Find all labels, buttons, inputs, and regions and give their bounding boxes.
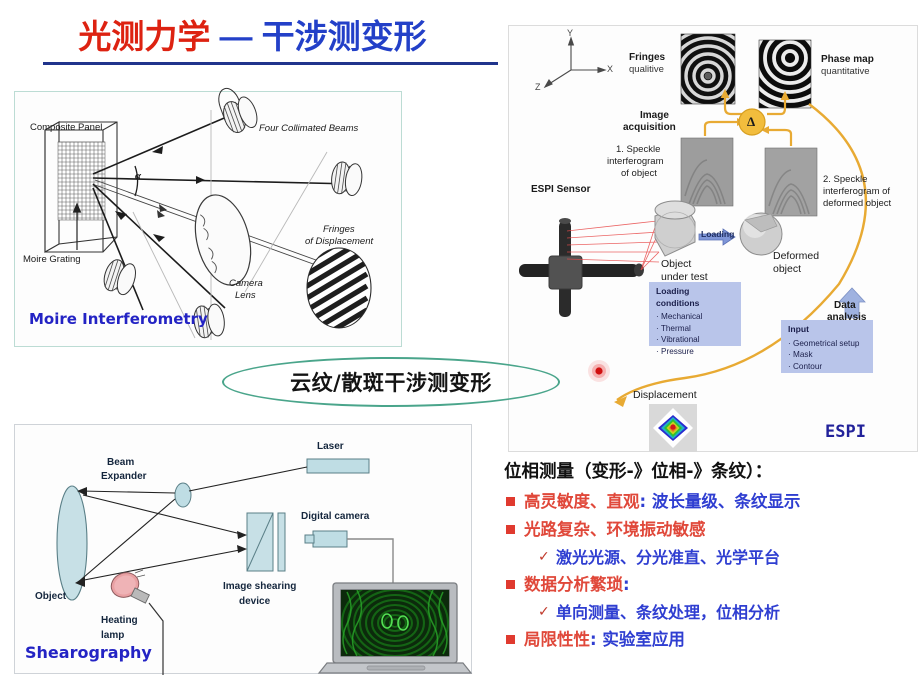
label-heating-lamp-line1: Heating (101, 615, 138, 626)
loading-conditions-item: · Mechanical (656, 311, 735, 323)
label-alpha-angle: α (135, 170, 141, 182)
center-topic-callout: 云纹/散斑干涉测变形 (222, 357, 560, 407)
shearography-figure: Laser Beam Expander Object Heating lamp … (14, 424, 472, 674)
label-speckle2-line1: 2. Speckle (823, 174, 867, 185)
label-speckle2-line2: interferogram of (823, 186, 890, 197)
loading-conditions-box: Loading conditions · Mechanical · Therma… (649, 282, 741, 346)
callout-label: 云纹/散斑干涉测变形 (222, 357, 560, 407)
loading-conditions-item: · Pressure (656, 346, 735, 358)
page-title-red: 光测力学 (78, 18, 210, 55)
input-box-item: · Geometrical setup (788, 338, 867, 350)
label-moire-grating: Moire Grating (23, 254, 81, 265)
label-phase-map-line1: Phase map (821, 54, 874, 65)
check-icon: ✓ (538, 546, 556, 568)
label-phase-map-line2: quantitative (821, 66, 870, 77)
label-four-collimated-beams: Four Collimated Beams (259, 123, 358, 134)
label-image-acquisition-line1: Image (640, 110, 669, 121)
bullet-text-blue: : 实验室应用 (590, 630, 685, 649)
shearography-panel-caption: Shearography (25, 643, 152, 662)
loading-conditions-title: Loading conditions (656, 286, 735, 309)
bullet-text-red: 高灵敏度、直观 (524, 492, 640, 511)
input-box: Input · Geometrical setup · Mask · Conto… (781, 320, 873, 373)
label-beam-expander-line2: Expander (101, 471, 147, 482)
label-fringes-line2: qualitive (629, 64, 664, 75)
espi-panel-caption: ESPI (825, 422, 866, 442)
bullet-square-icon (506, 497, 515, 506)
bullet-text-red: 数据分析繁琐 (524, 575, 623, 594)
list-item: 光路复杂、环境振动敏感 (504, 518, 922, 542)
page-title-blue: — 干涉测变形 (220, 18, 427, 55)
label-image-shearing-line1: Image shearing (223, 581, 296, 592)
loading-conditions-item: · Vibrational (656, 334, 735, 346)
label-fringes-line2: of Displacement (305, 236, 373, 247)
bullet-text-blue: : (623, 575, 630, 594)
moire-interferometry-figure: Composite Panel Four Collimated Beams Mo… (14, 91, 402, 347)
check-icon: ✓ (538, 601, 556, 623)
loading-conditions-item: · Thermal (656, 323, 735, 335)
label-loading-arrow: Loading (701, 229, 734, 239)
label-speckle1-line1: 1. Speckle (616, 144, 660, 155)
title-underline (43, 62, 498, 65)
list-item-sub: ✓ 激光光源、分光准直、光学平台 (538, 546, 922, 569)
page-title: 光测力学 — 干涉测变形 (0, 12, 505, 62)
bullet-square-icon (506, 635, 515, 644)
label-data-analysis-line1: Data (834, 300, 856, 311)
label-speckle2-line3: deformed object (823, 198, 891, 209)
label-beam-expander-line1: Beam (107, 457, 134, 468)
espi-diagram (509, 26, 919, 453)
axis-label-x: X (607, 64, 613, 74)
label-fringes-line1: Fringes (323, 224, 355, 235)
label-composite-panel: Composite Panel (30, 122, 102, 133)
label-displacement: Displacement (633, 389, 697, 401)
fringe-pattern-svg (341, 590, 449, 656)
bullet-square-icon (506, 525, 515, 534)
laptop-fringe-display (341, 590, 449, 656)
bullet-square-icon (506, 580, 515, 589)
input-box-item: · Contour (788, 361, 867, 373)
label-espi-sensor: ESPI Sensor (531, 184, 590, 195)
label-laser: Laser (317, 441, 344, 452)
list-item: 数据分析繁琐: (504, 573, 922, 597)
list-item: 局限性性: 实验室应用 (504, 628, 922, 652)
bullet-list-heading: 位相测量（变形-》位相-》条纹）： (504, 458, 922, 483)
input-box-item: · Mask (788, 349, 867, 361)
moire-panel-caption: Moire Interferometry (29, 310, 208, 328)
label-deformed-object-line2: object (773, 263, 801, 275)
label-image-acquisition-line2: acquisition (623, 122, 676, 133)
espi-figure: Y X Z Fringes qualitive Phase map quanti… (508, 25, 918, 452)
input-box-title: Input (788, 324, 867, 336)
summary-bullet-list: 位相测量（变形-》位相-》条纹）： 高灵敏度、直观: 波长量级、条纹显示 光路复… (504, 458, 922, 656)
list-item-sub: ✓ 单向测量、条纹处理，位相分析 (538, 601, 922, 624)
label-camera-lens-line2: Lens (235, 290, 256, 301)
bullet-text-red: 局限性性 (524, 630, 590, 649)
label-object-under-test-line1: Object (661, 258, 691, 270)
label-camera-lens-line1: Camera (229, 278, 263, 289)
bullet-text-red: 光路复杂、环境振动敏感 (524, 520, 706, 539)
axis-label-y: Y (567, 28, 573, 38)
label-digital-camera: Digital camera (301, 511, 369, 522)
bullet-text-blue: : 波长量级、条纹显示 (640, 492, 801, 511)
delta-node-label: Δ (747, 114, 755, 130)
label-heating-lamp-line2: lamp (101, 630, 124, 641)
label-fringes-line1: Fringes (629, 52, 665, 63)
label-deformed-object-line1: Deformed (773, 250, 819, 262)
axis-label-z: Z (535, 82, 541, 92)
bullet-text-blue: 单向测量、条纹处理，位相分析 (556, 603, 780, 622)
label-speckle1-line3: of object (621, 168, 657, 179)
label-speckle1-line2: interferogram (607, 156, 664, 167)
bullet-text-blue: 激光光源、分光准直、光学平台 (556, 548, 780, 567)
label-object: Object (35, 591, 66, 602)
label-image-shearing-line2: device (239, 596, 270, 607)
list-item: 高灵敏度、直观: 波长量级、条纹显示 (504, 490, 922, 514)
